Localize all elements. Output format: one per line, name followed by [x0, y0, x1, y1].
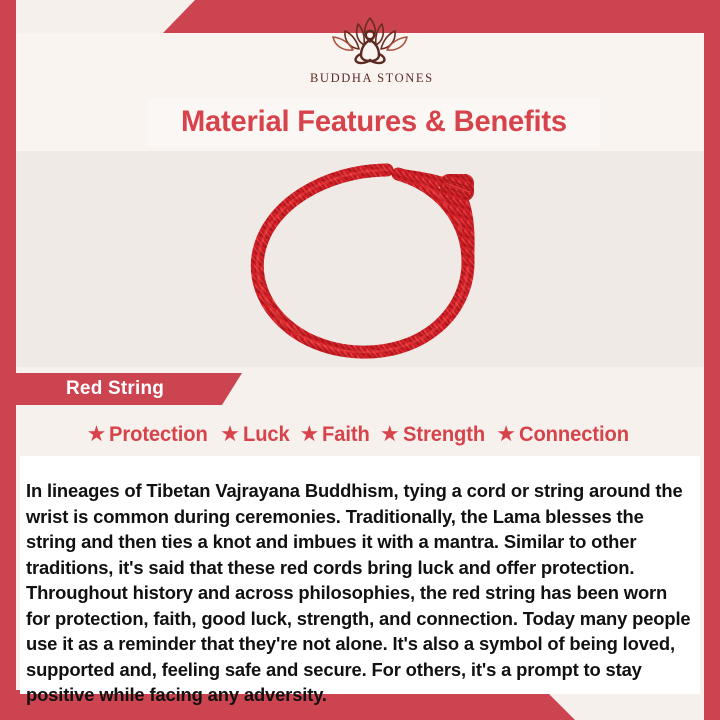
- benefit-item-connection: ★ Connection: [496, 423, 633, 447]
- left-accent-stripe: [0, 0, 16, 720]
- page-title: Material Features & Benefits: [181, 105, 567, 139]
- infographic-page: BUDDHA STONES Material Features & Benefi…: [0, 0, 720, 720]
- star-icon: ★: [496, 423, 516, 445]
- benefit-label: Strength: [403, 423, 485, 447]
- material-label-banner: Red String: [16, 373, 242, 405]
- product-image: [232, 152, 504, 368]
- brand-logo: BUDDHA STONES: [310, 14, 430, 92]
- lotus-meditation-figure-icon: [322, 14, 418, 70]
- brand-name: BUDDHA STONES: [310, 71, 430, 86]
- star-icon: ★: [380, 423, 400, 445]
- material-label: Red String: [66, 378, 164, 400]
- benefit-label: Faith: [322, 423, 370, 447]
- benefit-label: Connection: [519, 423, 629, 447]
- star-icon: ★: [220, 423, 240, 445]
- star-icon: ★: [87, 423, 107, 445]
- benefit-item-faith: ★ Faith: [300, 423, 372, 447]
- description-text: In lineages of Tibetan Vajrayana Buddhis…: [26, 478, 694, 708]
- benefit-item-protection: ★ Protection: [87, 423, 213, 447]
- page-title-band: Material Features & Benefits: [148, 98, 600, 146]
- benefit-item-strength: ★ Strength: [380, 423, 488, 447]
- description-card: In lineages of Tibetan Vajrayana Buddhis…: [20, 456, 700, 694]
- red-string-bracelet-illustration: [232, 152, 504, 368]
- star-icon: ★: [300, 423, 320, 445]
- benefit-label: Protection: [109, 423, 208, 447]
- benefits-list: ★ Protection ★ Luck ★ Faith ★ Strength ★…: [30, 419, 690, 451]
- benefit-label: Luck: [243, 423, 290, 447]
- benefit-item-luck: ★ Luck: [220, 423, 291, 447]
- right-accent-stripe: [704, 0, 720, 720]
